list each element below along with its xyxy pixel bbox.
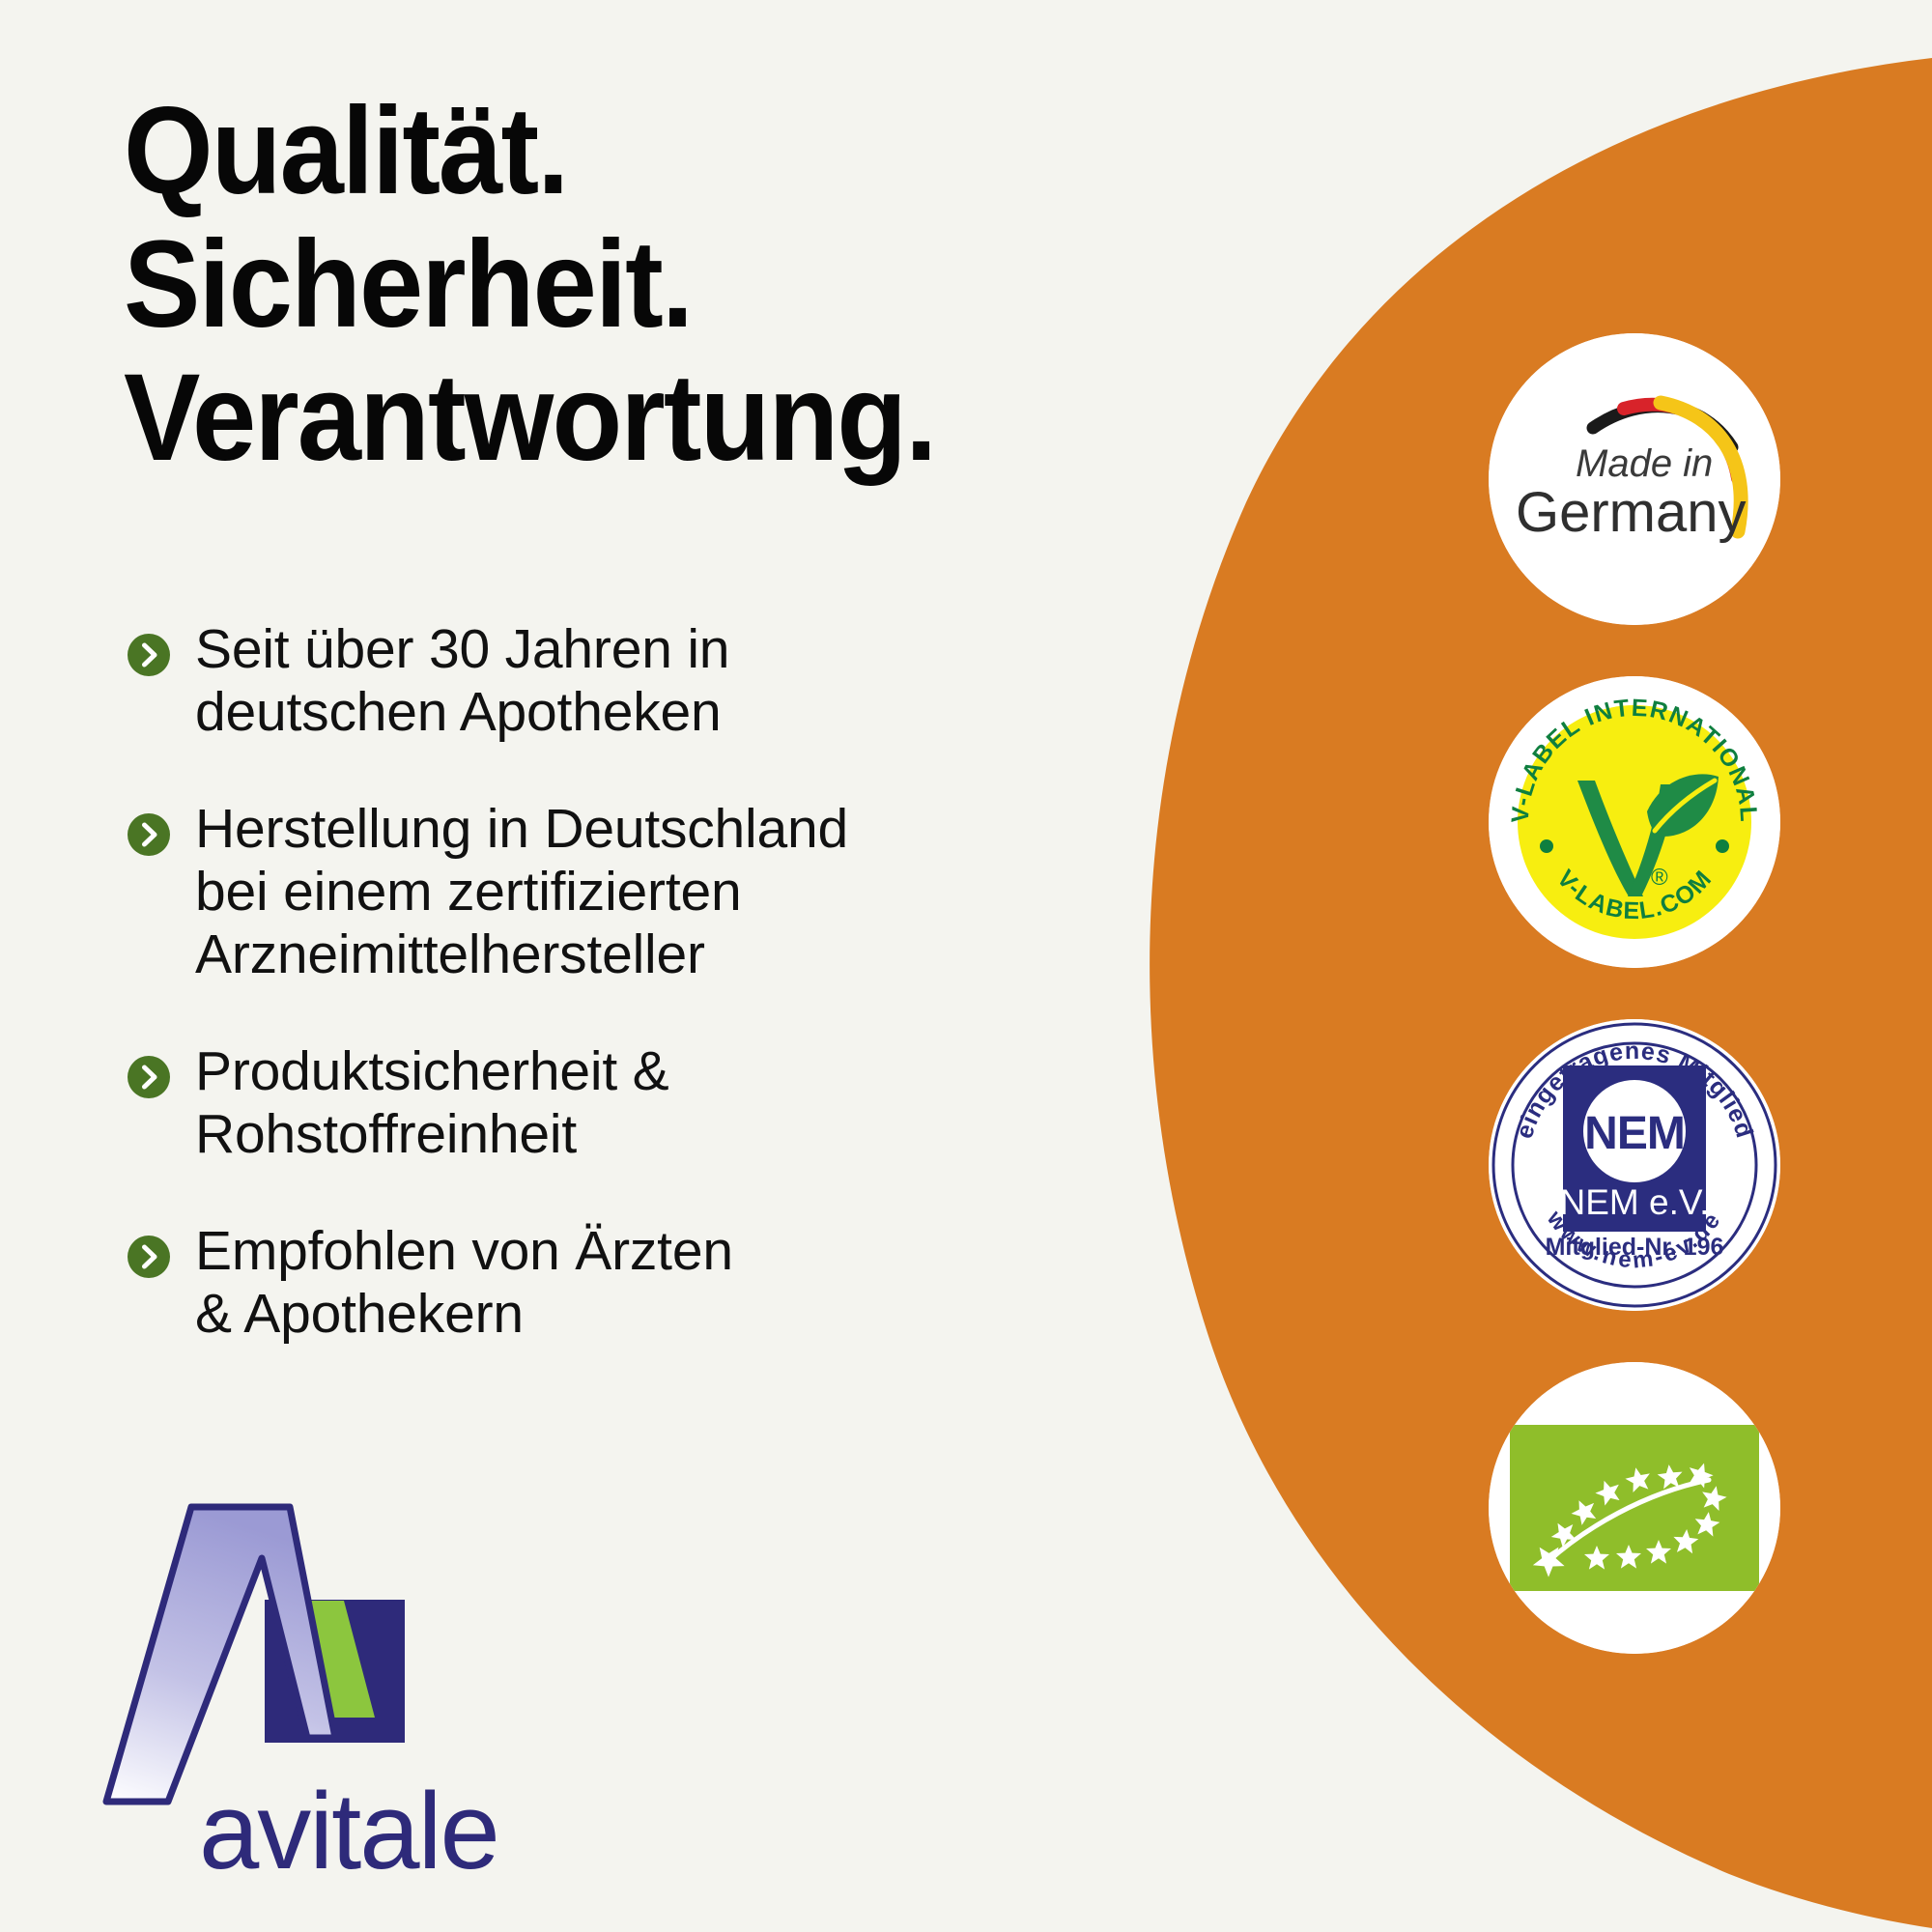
germany-line: Germany — [1516, 481, 1747, 544]
nem-member-number: Mitglied-Nr. 196 — [1546, 1234, 1724, 1261]
list-item: Empfohlen von Ärzten & Apothekern — [128, 1220, 1113, 1346]
made-in-line: Made in — [1576, 442, 1713, 485]
list-item-label: Seit über 30 Jahren in deutschen Apothek… — [195, 618, 729, 744]
list-item-label: Herstellung in Deutschland bei einem zer… — [195, 798, 848, 986]
benefit-list: Seit über 30 Jahren in deutschen Apothek… — [128, 618, 1113, 1346]
nem-mark: NEM — [1584, 1108, 1685, 1159]
list-item-label: Empfohlen von Ärzten & Apothekern — [195, 1220, 733, 1346]
made-in-germany-badge: Made in Germany — [1489, 333, 1780, 625]
chevron-right-icon — [128, 813, 170, 856]
v-label-dot-right — [1716, 839, 1729, 853]
chevron-right-icon — [128, 1236, 170, 1278]
eu-organic-leaf-badge — [1489, 1362, 1780, 1654]
headline-line-2: Sicherheit. — [124, 218, 1094, 352]
nem-org-text: NEM e.V. — [1560, 1182, 1710, 1222]
headline-line-3: Verantwortung. — [124, 352, 1094, 485]
avitale-logo: avitale — [85, 1486, 500, 1891]
nem-ev-badge: eingetragenes Mitglied www.nem-ev.de NEM… — [1489, 1019, 1780, 1311]
registered-mark-icon: ® — [1651, 865, 1668, 891]
headline-line-1: Qualität. — [124, 85, 1094, 218]
list-item: Herstellung in Deutschland bei einem zer… — [128, 798, 1113, 986]
v-label-international-badge: V-LABEL INTERNATIONAL V-LABEL.COM ® — [1489, 676, 1780, 968]
list-item: Seit über 30 Jahren in deutschen Apothek… — [128, 618, 1113, 744]
list-item: Produktsicherheit & Rohstoffreinheit — [128, 1040, 1113, 1166]
avitale-wordmark: avitale — [199, 1771, 498, 1891]
chevron-right-icon — [128, 634, 170, 676]
headline-block: Qualität. Sicherheit. Verantwortung. — [124, 85, 1167, 486]
v-label-dot-left — [1540, 839, 1553, 853]
list-item-label: Produktsicherheit & Rohstoffreinheit — [195, 1040, 668, 1166]
chevron-right-icon — [128, 1056, 170, 1098]
